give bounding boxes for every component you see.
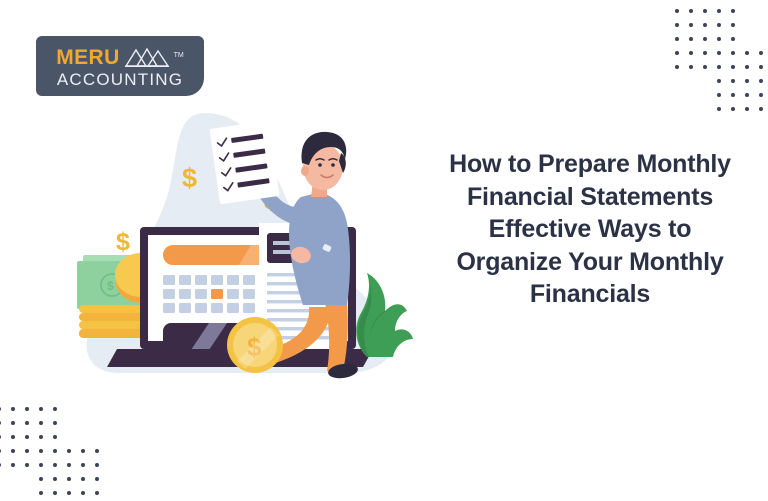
decorative-dot-row [670, 46, 768, 60]
decorative-dot [25, 449, 29, 453]
decorative-dot [67, 449, 71, 453]
decorative-dot [39, 463, 43, 467]
decorative-dot-row [0, 486, 104, 500]
decorative-dot [0, 407, 1, 411]
decorative-dot [703, 93, 707, 97]
decorative-dot-grid-top-right [670, 4, 768, 116]
decorative-dot [689, 79, 693, 83]
decorative-dot [703, 65, 707, 69]
brand-logo[interactable]: MERU TM ACCOUNTING [36, 36, 204, 96]
decorative-dot [689, 37, 693, 41]
decorative-dot [53, 407, 57, 411]
decorative-dot-row [670, 32, 768, 46]
decorative-dot [689, 9, 693, 13]
decorative-dot [81, 421, 85, 425]
decorative-dot [0, 463, 1, 467]
dollar-sign-3: $ [116, 228, 130, 256]
decorative-dot [745, 93, 749, 97]
decorative-dot [39, 491, 43, 495]
decorative-dot [67, 435, 71, 439]
dollar-sign-1: $ [182, 163, 197, 193]
decorative-dot [689, 93, 693, 97]
logo-primary-text: MERU [56, 47, 119, 68]
decorative-dot [717, 23, 721, 27]
decorative-dot [11, 477, 15, 481]
decorative-dot-row [670, 18, 768, 32]
decorative-dot [703, 23, 707, 27]
decorative-dot [0, 449, 1, 453]
decorative-dot [675, 107, 679, 111]
decorative-dot [745, 107, 749, 111]
decorative-dot [25, 407, 29, 411]
page-title: How to Prepare Monthly Financial Stateme… [440, 148, 740, 311]
decorative-dot [81, 491, 85, 495]
decorative-dot-row [670, 60, 768, 74]
large-coin: $ [227, 317, 283, 373]
decorative-dot [759, 79, 763, 83]
decorative-dot [689, 107, 693, 111]
decorative-dot [717, 79, 721, 83]
decorative-dot [759, 9, 763, 13]
svg-text:$: $ [107, 279, 114, 293]
decorative-dot [717, 107, 721, 111]
decorative-dot-row [670, 4, 768, 18]
decorative-dot [731, 93, 735, 97]
decorative-dot-row [670, 102, 768, 116]
decorative-dot-row [0, 402, 104, 416]
decorative-dot [731, 107, 735, 111]
decorative-dot [731, 51, 735, 55]
decorative-dot [689, 23, 693, 27]
decorative-dot [703, 79, 707, 83]
decorative-dot-row [670, 74, 768, 88]
calendar-grid [163, 275, 271, 313]
decorative-dot [67, 407, 71, 411]
decorative-dot [53, 477, 57, 481]
decorative-dot [39, 477, 43, 481]
decorative-dot [25, 435, 29, 439]
decorative-dot [703, 51, 707, 55]
decorative-dot [731, 23, 735, 27]
decorative-dot [39, 435, 43, 439]
decorative-dot-row [0, 458, 104, 472]
decorative-dot [745, 23, 749, 27]
decorative-dot [0, 435, 1, 439]
decorative-dot [25, 477, 29, 481]
decorative-dot [0, 477, 1, 481]
decorative-dot [675, 93, 679, 97]
decorative-dot [95, 407, 99, 411]
decorative-dot [11, 435, 15, 439]
decorative-dot [703, 9, 707, 13]
logo-top-row: MERU TM [56, 44, 184, 68]
decorative-dot [745, 37, 749, 41]
decorative-dot [745, 79, 749, 83]
decorative-dot [759, 107, 763, 111]
decorative-dot [11, 491, 15, 495]
decorative-dot [11, 449, 15, 453]
decorative-dot [95, 491, 99, 495]
decorative-dot [53, 463, 57, 467]
decorative-dot [0, 491, 1, 495]
decorative-dot [81, 463, 85, 467]
decorative-dot [25, 463, 29, 467]
decorative-dot [675, 65, 679, 69]
decorative-dot [717, 93, 721, 97]
decorative-dot [703, 107, 707, 111]
plant [356, 273, 413, 357]
decorative-dot [717, 9, 721, 13]
decorative-dot [717, 51, 721, 55]
decorative-dot [95, 449, 99, 453]
decorative-dot [67, 421, 71, 425]
decorative-dot [731, 9, 735, 13]
decorative-dot [717, 37, 721, 41]
checklist-paper [210, 121, 280, 205]
decorative-dot [689, 51, 693, 55]
decorative-dot [81, 477, 85, 481]
decorative-dot [25, 421, 29, 425]
decorative-dot [759, 51, 763, 55]
logo-trademark: TM [174, 52, 184, 59]
decorative-dot [11, 463, 15, 467]
decorative-dot [675, 37, 679, 41]
decorative-dot [759, 65, 763, 69]
decorative-dot [53, 449, 57, 453]
decorative-dot [81, 449, 85, 453]
decorative-dot [731, 79, 735, 83]
hero-illustration: $ $ $ $ [55, 105, 455, 380]
decorative-dot [703, 37, 707, 41]
decorative-dot [689, 65, 693, 69]
decorative-dot-row [670, 88, 768, 102]
logo-secondary-text: ACCOUNTING [57, 71, 183, 88]
decorative-dot [675, 23, 679, 27]
decorative-dot [759, 37, 763, 41]
decorative-dot [0, 421, 1, 425]
decorative-dot [759, 93, 763, 97]
decorative-dot [95, 477, 99, 481]
decorative-dot [67, 463, 71, 467]
mountains-icon [124, 46, 170, 68]
decorative-dot [731, 65, 735, 69]
decorative-dot [717, 65, 721, 69]
decorative-dot [39, 421, 43, 425]
decorative-dot [95, 463, 99, 467]
decorative-dot [53, 491, 57, 495]
decorative-dot-row [0, 430, 104, 444]
decorative-dot [675, 79, 679, 83]
decorative-dot [81, 435, 85, 439]
decorative-dot [745, 9, 749, 13]
decorative-dot [675, 9, 679, 13]
decorative-dot [759, 23, 763, 27]
decorative-dot [81, 407, 85, 411]
decorative-dot [67, 477, 71, 481]
decorative-dot [745, 51, 749, 55]
decorative-dot [53, 421, 57, 425]
decorative-dot [675, 51, 679, 55]
decorative-dot [95, 435, 99, 439]
decorative-dot [745, 65, 749, 69]
decorative-dot-row [0, 444, 104, 458]
decorative-dot [53, 435, 57, 439]
banner-canvas: MERU TM ACCOUNTING $ $ $ $ [0, 0, 768, 501]
decorative-dot-grid-bottom-left [0, 402, 104, 501]
decorative-dot [39, 407, 43, 411]
decorative-dot [25, 491, 29, 495]
decorative-dot [11, 421, 15, 425]
decorative-dot [39, 449, 43, 453]
decorative-dot [11, 407, 15, 411]
decorative-dot [95, 421, 99, 425]
decorative-dot-row [0, 472, 104, 486]
decorative-dot [67, 491, 71, 495]
decorative-dot [731, 37, 735, 41]
decorative-dot-row [0, 416, 104, 430]
